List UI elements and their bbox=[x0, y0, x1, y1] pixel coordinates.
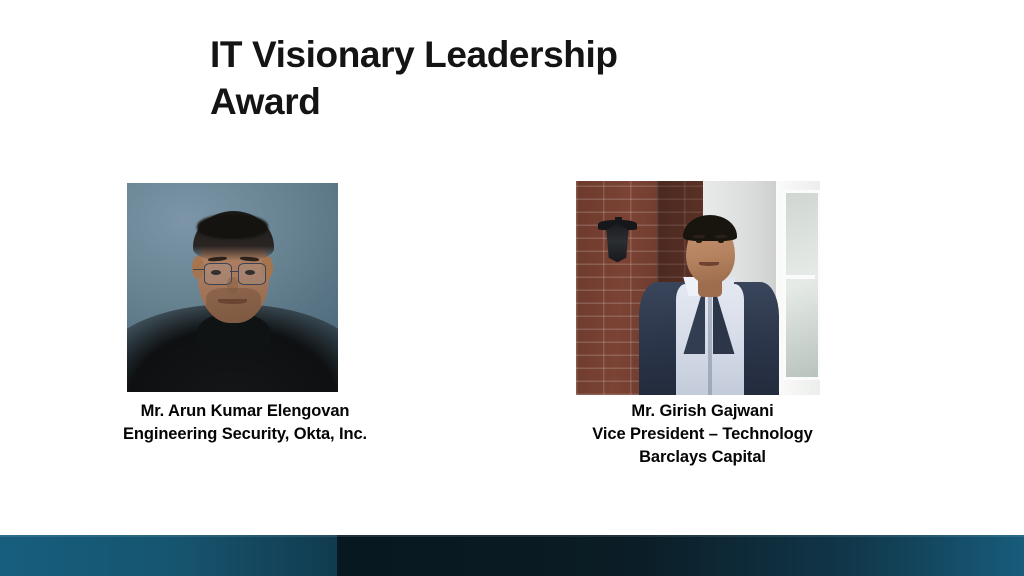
photo-window-mullion bbox=[783, 275, 815, 279]
awardee-photo-2 bbox=[576, 181, 820, 395]
photo-nose bbox=[227, 277, 238, 294]
footer-band-right bbox=[637, 535, 1024, 576]
photo-eyebrow-right bbox=[715, 235, 727, 238]
awardee-caption-2: Mr. Girish Gajwani Vice President – Tech… bbox=[545, 400, 860, 468]
awardee-photo-1 bbox=[127, 183, 338, 392]
awardee-photo-1-image bbox=[127, 183, 338, 392]
footer-band-left bbox=[0, 535, 337, 576]
footer-band-hairline bbox=[0, 535, 1024, 537]
photo-eyebrow-left bbox=[693, 235, 705, 238]
footer-band-middle bbox=[337, 535, 637, 576]
photo-eyeglass-temple bbox=[193, 269, 205, 271]
award-slide: IT Visionary Leadership Award Mr. Aru bbox=[0, 0, 1024, 576]
photo-eyeglass-lens-right bbox=[238, 263, 266, 285]
photo-shirt-placket bbox=[708, 292, 712, 395]
footer-band bbox=[0, 535, 1024, 576]
page-title: IT Visionary Leadership Award bbox=[210, 31, 850, 126]
photo-hair-highlight bbox=[197, 214, 269, 239]
awardee-caption-1: Mr. Arun Kumar Elengovan Engineering Sec… bbox=[20, 400, 470, 446]
photo-window-pane bbox=[783, 190, 820, 380]
photo-ear-left bbox=[192, 256, 204, 279]
awardee-photo-2-image bbox=[576, 181, 820, 395]
photo-eyeglass-bridge bbox=[230, 271, 237, 273]
